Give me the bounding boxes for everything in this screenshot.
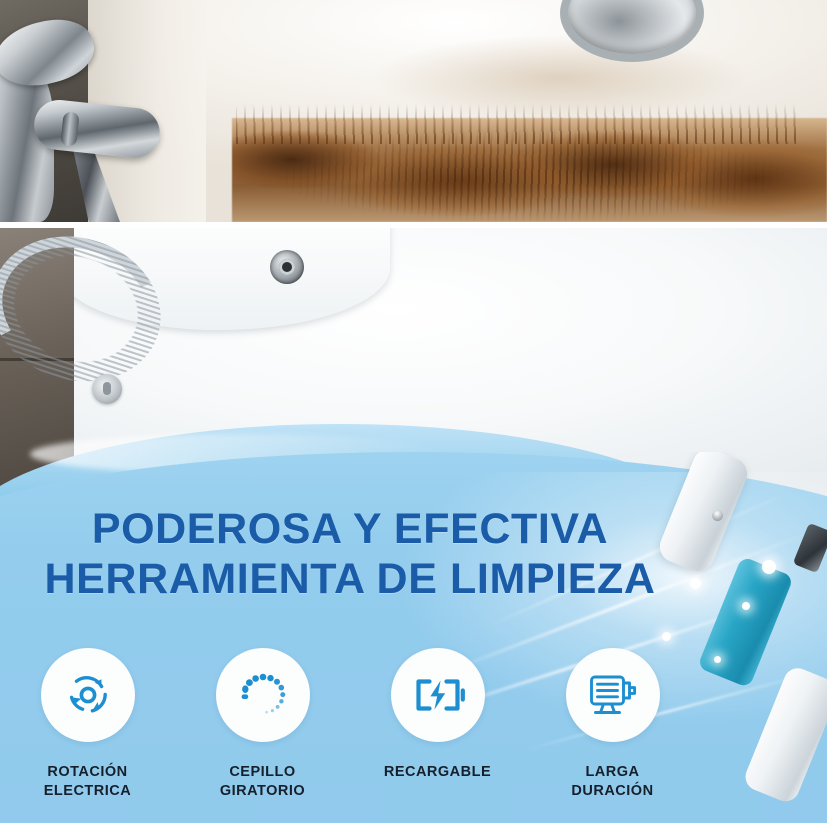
feature-label: ROTACIÓN ELECTRICA (44, 763, 131, 801)
feature-item-cepillo-giratorio: CEPILLO GIRATORIO (175, 648, 350, 801)
photo-dirty-bathtub (0, 0, 827, 222)
feature-label-line-2: DURACIÓN (571, 782, 653, 801)
lens-flare-dot (662, 632, 671, 641)
feature-label-line-2: GIRATORIO (220, 782, 305, 801)
grime-splash (236, 104, 796, 144)
feature-item-recargable: RECARGABLE (350, 648, 525, 801)
feature-label-line-1: ROTACIÓN (44, 763, 131, 782)
spinning-brush-dots-icon (216, 648, 310, 742)
rotation-arrows-icon (41, 648, 135, 742)
battery-charging-icon (391, 648, 485, 742)
feature-label-line-1: CEPILLO (220, 763, 305, 782)
feature-label-line-2: ELECTRICA (44, 782, 131, 801)
feature-list: ROTACIÓN ELECTRICA (0, 648, 700, 801)
electric-motor-icon (566, 648, 660, 742)
lens-flare-dot (762, 560, 776, 574)
headline-line-2: HERRAMIENTA DE LIMPIEZA (0, 554, 700, 604)
feature-label: LARGA DURACIÓN (571, 763, 653, 801)
suction-cup (92, 374, 122, 404)
page-title: PODEROSA Y EFECTIVA HERRAMIENTA DE LIMPI… (0, 452, 700, 605)
product-banner: PODEROSA Y EFECTIVA HERRAMIENTA DE LIMPI… (0, 0, 827, 823)
feature-label-line-1: RECARGABLE (384, 763, 491, 782)
feature-panel: PODEROSA Y EFECTIVA HERRAMIENTA DE LIMPI… (0, 452, 827, 823)
lens-flare-dot (714, 656, 721, 663)
feature-label: CEPILLO GIRATORIO (220, 763, 305, 801)
lens-flare-dot (742, 602, 750, 610)
feature-label-line-1: LARGA (571, 763, 653, 782)
headline-line-1: PODEROSA Y EFECTIVA (92, 505, 608, 553)
feature-item-rotacion-electrica: ROTACIÓN ELECTRICA (0, 648, 175, 801)
feature-label: RECARGABLE (384, 763, 491, 782)
feature-item-larga-duracion: LARGA DURACIÓN (525, 648, 700, 801)
overflow-drain-icon (270, 250, 304, 284)
